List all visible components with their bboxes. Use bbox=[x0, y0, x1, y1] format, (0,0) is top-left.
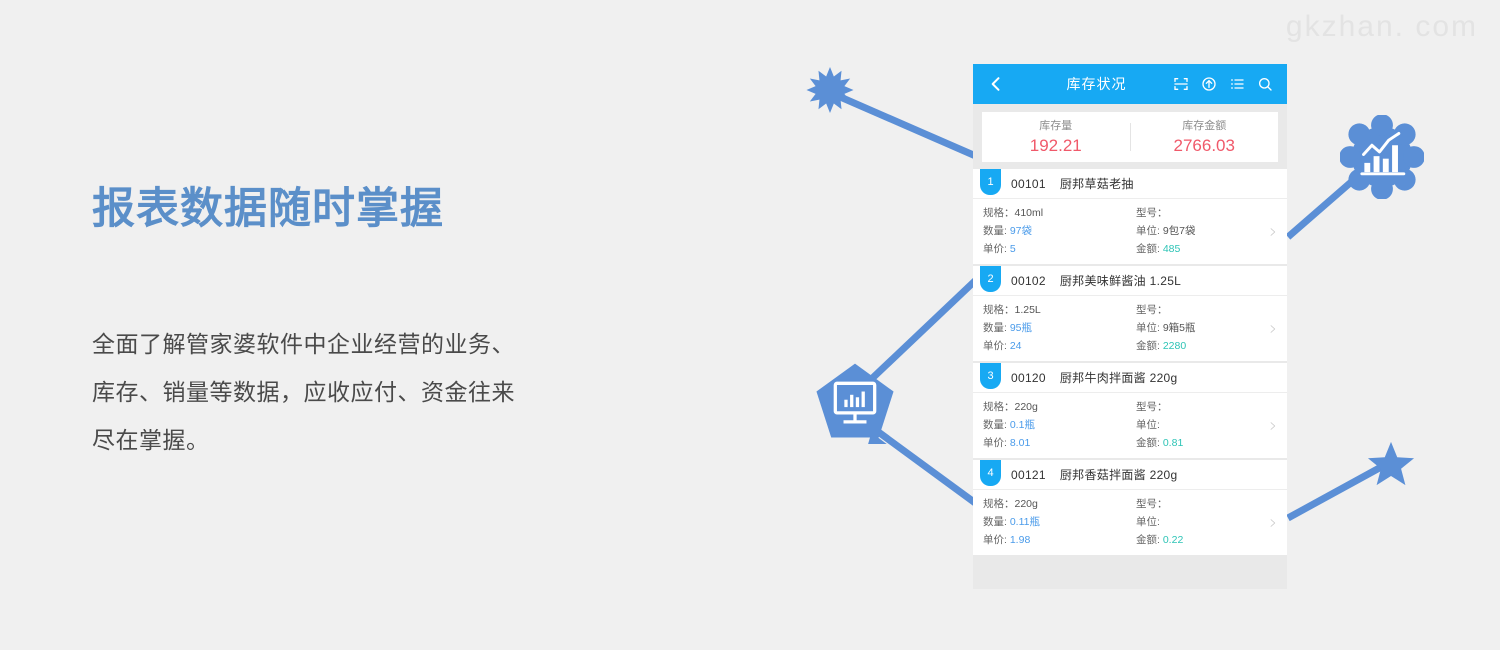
inventory-list: 1 00101 厨邦草菇老抽 规格：410ml 数量: 97袋 单价: 5 型号… bbox=[973, 169, 1287, 589]
label-model: 型号： bbox=[1136, 401, 1168, 413]
label-price: 单价: bbox=[983, 340, 1007, 352]
chevron-right-icon[interactable] bbox=[1268, 418, 1277, 433]
item-qty: 数量: 0.1瓶 bbox=[983, 416, 1134, 434]
copy-body-line-3: 尽在掌握。 bbox=[92, 416, 612, 464]
item-unit: 单位: bbox=[1136, 416, 1287, 434]
label-unit: 单位: bbox=[1136, 225, 1160, 237]
list-item-body: 规格：1.25L 数量: 95瓶 单价: 24 型号： 单位: 9箱5瓶 金额:… bbox=[973, 296, 1287, 361]
item-spec: 规格：220g bbox=[983, 398, 1134, 416]
value-qty: 95瓶 bbox=[1010, 322, 1032, 334]
label-qty: 数量: bbox=[983, 225, 1007, 237]
item-amount: 金额: 0.81 bbox=[1136, 434, 1287, 452]
star-badge bbox=[1366, 440, 1416, 488]
item-name: 厨邦美味鲜酱油 1.25L bbox=[1060, 272, 1181, 289]
scan-icon[interactable] bbox=[1172, 76, 1189, 93]
list-empty-tail bbox=[973, 557, 1287, 589]
list-item-body: 规格：220g 数量: 0.1瓶 单价: 8.01 型号： 单位: 金额: 0.… bbox=[973, 393, 1287, 458]
item-code: 00101 bbox=[1011, 177, 1046, 191]
list-item[interactable]: 1 00101 厨邦草菇老抽 规格：410ml 数量: 97袋 单价: 5 型号… bbox=[973, 169, 1287, 264]
label-price: 单价: bbox=[983, 534, 1007, 546]
item-unit: 单位: 9包7袋 bbox=[1136, 222, 1287, 240]
pentagon-shape bbox=[814, 362, 896, 444]
label-qty: 数量: bbox=[983, 322, 1007, 334]
item-col-left: 规格：220g 数量: 0.1瓶 单价: 8.01 bbox=[973, 398, 1134, 452]
list-item-header: 2 00102 厨邦美味鲜酱油 1.25L bbox=[973, 266, 1287, 296]
item-code: 00120 bbox=[1011, 371, 1046, 385]
app-title: 库存状况 bbox=[1007, 74, 1172, 94]
label-price: 单价: bbox=[983, 243, 1007, 255]
list-item[interactable]: 2 00102 厨邦美味鲜酱油 1.25L 规格：1.25L 数量: 95瓶 单… bbox=[973, 266, 1287, 361]
copy-body: 全面了解管家婆软件中企业经营的业务、 库存、销量等数据，应收应付、资金往来 尽在… bbox=[92, 320, 612, 464]
chevron-right-icon[interactable] bbox=[1268, 321, 1277, 336]
stat-stock-quantity: 库存量 192.21 bbox=[982, 118, 1130, 157]
list-item[interactable]: 3 00120 厨邦牛肉拌面酱 220g 规格：220g 数量: 0.1瓶 单价… bbox=[973, 363, 1287, 458]
list-item-header: 1 00101 厨邦草菇老抽 bbox=[973, 169, 1287, 199]
label-qty: 数量: bbox=[983, 516, 1007, 528]
item-amount: 金额: 2280 bbox=[1136, 337, 1287, 355]
label-model: 型号： bbox=[1136, 498, 1168, 510]
slide-canvas: gkzhan. com 报表数据随时掌握 全面了解管家婆软件中企业经营的业务、 … bbox=[0, 0, 1500, 650]
page-title: 报表数据随时掌握 bbox=[92, 185, 612, 234]
item-qty: 数量: 95瓶 bbox=[983, 319, 1134, 337]
label-spec: 规格： bbox=[983, 401, 1015, 413]
starburst-badge bbox=[806, 66, 854, 114]
item-price: 单价: 8.01 bbox=[983, 434, 1134, 452]
item-amount: 金额: 485 bbox=[1136, 240, 1287, 258]
stat-label: 库存金额 bbox=[1131, 118, 1279, 134]
list-item-header: 4 00121 厨邦香菇拌面酱 220g bbox=[973, 460, 1287, 490]
label-spec: 规格： bbox=[983, 304, 1015, 316]
stat-stock-amount: 库存金额 2766.03 bbox=[1131, 118, 1279, 157]
item-amount: 金额: 0.22 bbox=[1136, 531, 1287, 549]
stats-card: 库存量 192.21 库存金额 2766.03 bbox=[982, 112, 1278, 162]
connector-line-top-left bbox=[838, 96, 978, 157]
pentagon-badge bbox=[814, 362, 896, 444]
item-col-left: 规格：410ml 数量: 97袋 单价: 5 bbox=[973, 204, 1134, 258]
item-code: 00102 bbox=[1011, 274, 1046, 288]
item-col-left: 规格：220g 数量: 0.11瓶 单价: 1.98 bbox=[973, 495, 1134, 549]
label-model: 型号： bbox=[1136, 207, 1168, 219]
value-price: 5 bbox=[1010, 243, 1016, 255]
item-name: 厨邦草菇老抽 bbox=[1060, 175, 1134, 192]
label-unit: 单位: bbox=[1136, 516, 1160, 528]
value-amount: 2280 bbox=[1163, 340, 1186, 352]
item-qty: 数量: 97袋 bbox=[983, 222, 1134, 240]
label-price: 单价: bbox=[983, 437, 1007, 449]
stat-value: 2766.03 bbox=[1131, 135, 1279, 157]
label-amount: 金额: bbox=[1136, 534, 1160, 546]
value-amount: 0.81 bbox=[1163, 437, 1183, 449]
value-amount: 485 bbox=[1163, 243, 1181, 255]
flower-badge bbox=[1340, 115, 1424, 199]
item-unit: 单位: 9箱5瓶 bbox=[1136, 319, 1287, 337]
item-col-right: 型号： 单位: 金额: 0.81 bbox=[1134, 398, 1287, 452]
index-badge: 2 bbox=[980, 266, 1001, 292]
upload-circle-icon[interactable] bbox=[1200, 76, 1217, 93]
copy-block: 报表数据随时掌握 全面了解管家婆软件中企业经营的业务、 库存、销量等数据，应收应… bbox=[92, 185, 612, 464]
value-price: 24 bbox=[1010, 340, 1022, 352]
value-spec: 1.25L bbox=[1015, 304, 1041, 316]
app-header: 库存状况 bbox=[973, 64, 1287, 104]
index-badge: 3 bbox=[980, 363, 1001, 389]
chevron-right-icon[interactable] bbox=[1268, 224, 1277, 239]
item-qty: 数量: 0.11瓶 bbox=[983, 513, 1134, 531]
star-icon bbox=[1366, 440, 1416, 488]
value-spec: 220g bbox=[1015, 498, 1038, 510]
watermark-text: gkzhan. com bbox=[1286, 10, 1478, 44]
list-item-body: 规格：410ml 数量: 97袋 单价: 5 型号： 单位: 9包7袋 金额: … bbox=[973, 199, 1287, 264]
label-model: 型号： bbox=[1136, 304, 1168, 316]
list-item-header: 3 00120 厨邦牛肉拌面酱 220g bbox=[973, 363, 1287, 393]
copy-body-line-2: 库存、销量等数据，应收应付、资金往来 bbox=[92, 368, 612, 416]
label-spec: 规格： bbox=[983, 207, 1015, 219]
label-qty: 数量: bbox=[983, 419, 1007, 431]
phone-screen: 库存状况 bbox=[973, 64, 1287, 589]
item-col-left: 规格：1.25L 数量: 95瓶 单价: 24 bbox=[973, 301, 1134, 355]
list-item[interactable]: 4 00121 厨邦香菇拌面酱 220g 规格：220g 数量: 0.11瓶 单… bbox=[973, 460, 1287, 555]
value-qty: 0.1瓶 bbox=[1010, 419, 1035, 431]
value-spec: 220g bbox=[1015, 401, 1038, 413]
value-price: 1.98 bbox=[1010, 534, 1030, 546]
item-price: 单价: 1.98 bbox=[983, 531, 1134, 549]
label-spec: 规格： bbox=[983, 498, 1015, 510]
value-qty: 0.11瓶 bbox=[1010, 516, 1040, 528]
index-badge: 1 bbox=[980, 169, 1001, 195]
list-item-body: 规格：220g 数量: 0.11瓶 单价: 1.98 型号： 单位: 金额: 0… bbox=[973, 490, 1287, 555]
label-amount: 金额: bbox=[1136, 243, 1160, 255]
value-amount: 0.22 bbox=[1163, 534, 1183, 546]
index-badge: 4 bbox=[980, 460, 1001, 486]
item-code: 00121 bbox=[1011, 468, 1046, 482]
item-spec: 规格：410ml bbox=[983, 204, 1134, 222]
item-spec: 规格：1.25L bbox=[983, 301, 1134, 319]
item-col-right: 型号： 单位: 9包7袋 金额: 485 bbox=[1134, 204, 1287, 258]
copy-body-line-1: 全面了解管家婆软件中企业经营的业务、 bbox=[92, 320, 612, 368]
label-amount: 金额: bbox=[1136, 437, 1160, 449]
value-qty: 97袋 bbox=[1010, 225, 1032, 237]
item-col-right: 型号： 单位: 9箱5瓶 金额: 2280 bbox=[1134, 301, 1287, 355]
item-price: 单价: 5 bbox=[983, 240, 1134, 258]
item-name: 厨邦香菇拌面酱 220g bbox=[1060, 466, 1178, 483]
value-unit: 9箱5瓶 bbox=[1163, 322, 1196, 334]
item-model: 型号： bbox=[1136, 301, 1287, 319]
label-unit: 单位: bbox=[1136, 419, 1160, 431]
item-price: 单价: 24 bbox=[983, 337, 1134, 355]
value-unit: 9包7袋 bbox=[1163, 225, 1196, 237]
header-icon-group bbox=[1172, 76, 1275, 93]
item-model: 型号： bbox=[1136, 398, 1287, 416]
item-unit: 单位: bbox=[1136, 513, 1287, 531]
item-spec: 规格：220g bbox=[983, 495, 1134, 513]
list-icon[interactable] bbox=[1228, 76, 1245, 93]
item-model: 型号： bbox=[1136, 495, 1287, 513]
stat-value: 192.21 bbox=[982, 135, 1130, 157]
value-price: 8.01 bbox=[1010, 437, 1030, 449]
item-col-right: 型号： 单位: 金额: 0.22 bbox=[1134, 495, 1287, 549]
chevron-left-icon[interactable] bbox=[985, 73, 1007, 95]
label-unit: 单位: bbox=[1136, 322, 1160, 334]
starburst-icon bbox=[806, 66, 854, 114]
flower-shape bbox=[1340, 115, 1424, 199]
item-name: 厨邦牛肉拌面酱 220g bbox=[1060, 369, 1178, 386]
value-spec: 410ml bbox=[1015, 207, 1044, 219]
chevron-right-icon[interactable] bbox=[1268, 515, 1277, 530]
label-amount: 金额: bbox=[1136, 340, 1160, 352]
item-model: 型号： bbox=[1136, 204, 1287, 222]
stat-label: 库存量 bbox=[982, 118, 1130, 134]
search-icon[interactable] bbox=[1256, 76, 1273, 93]
stats-section: 库存量 192.21 库存金额 2766.03 bbox=[973, 104, 1287, 169]
